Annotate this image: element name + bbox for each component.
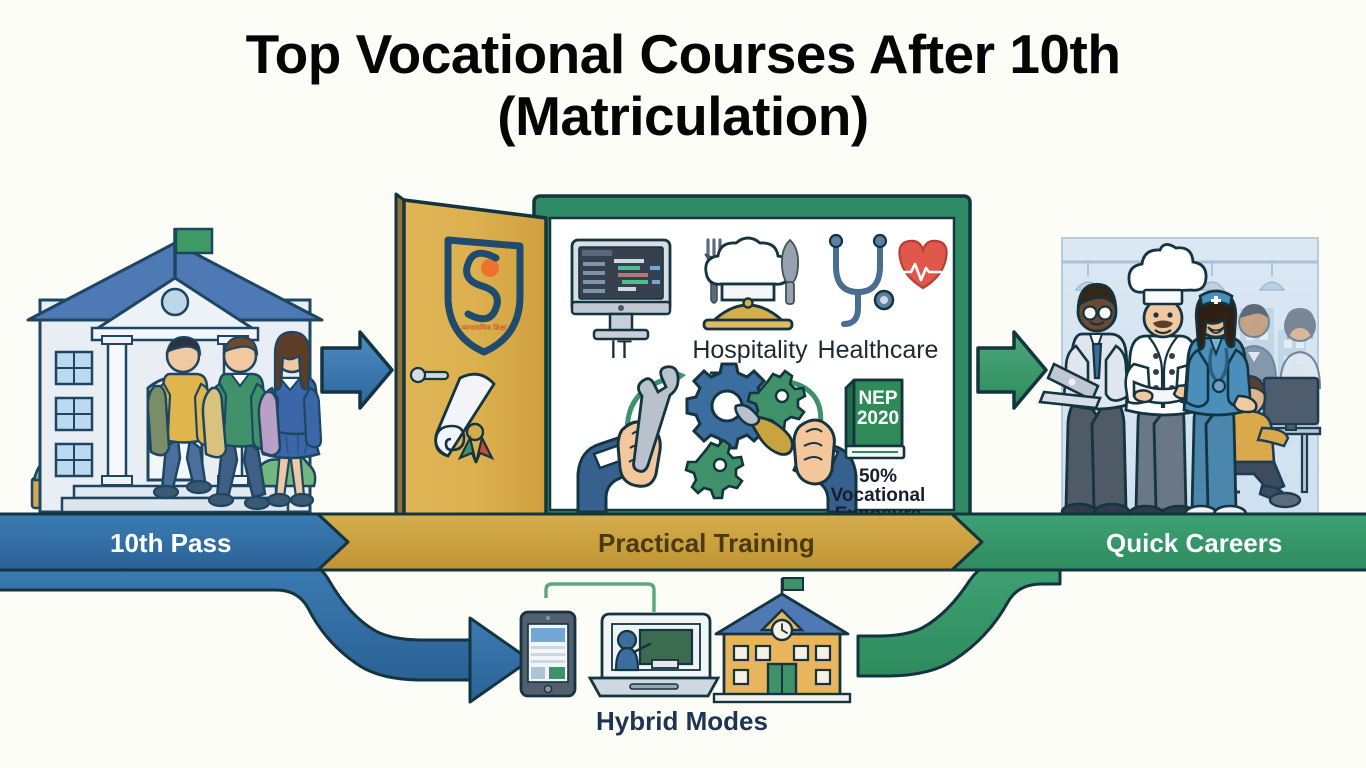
nep-book-line2: 2020 — [857, 408, 899, 429]
shield-tagline: व्यावसायिक शिक्षा — [461, 323, 506, 332]
sector-it-label: IT — [610, 336, 632, 364]
band-10th-pass-label: 10th Pass — [110, 528, 231, 558]
infographic-canvas: Top Vocational Courses After 10th (Matri… — [0, 0, 1366, 768]
school-windows — [56, 352, 92, 476]
sector-hospitality-label: Hospitality — [692, 336, 808, 364]
hybrid-modes-label: Hybrid Modes — [596, 706, 768, 736]
band-practical-training: Practical Training — [318, 514, 982, 570]
arrow-school-to-door — [322, 332, 392, 408]
band-10th-pass: 10th Pass — [0, 514, 348, 570]
nep-book-line1: NEP — [858, 388, 897, 409]
careers-scene — [1040, 238, 1320, 522]
band-quick-careers-label: Quick Careers — [1106, 528, 1282, 558]
training-panel: IT Hospitality — [534, 196, 970, 525]
tablet-icon — [521, 612, 575, 696]
nep-caption-line1: 50% — [859, 466, 897, 487]
nep-caption-line2: Vocational — [831, 485, 926, 506]
green-branch-path — [858, 560, 1060, 676]
band-practical-training-label: Practical Training — [598, 528, 815, 558]
door-open: व्यावसायिक शिक्षा — [396, 194, 546, 548]
scene-illustration: IT Hospitality — [0, 0, 1366, 768]
school-scene — [28, 228, 322, 512]
arrow-door-to-careers — [978, 332, 1046, 408]
school-building-icon — [714, 578, 850, 702]
band-quick-careers: Quick Careers — [952, 514, 1366, 570]
laptop-online-class-icon — [590, 614, 718, 696]
hybrid-modes-group: Hybrid Modes — [521, 578, 850, 736]
sector-healthcare-label: Healthcare — [818, 336, 939, 364]
